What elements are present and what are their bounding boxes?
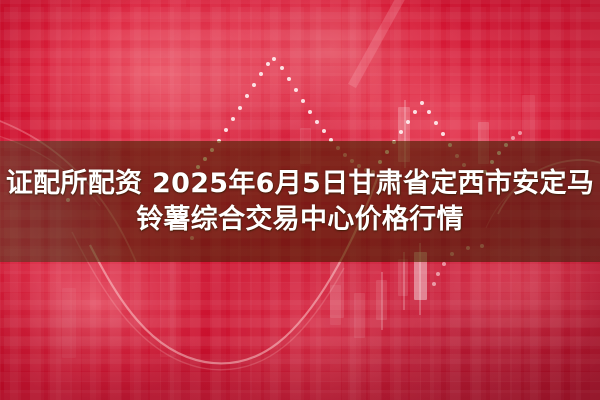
headline-block: 证配所配资 2025年6月5日甘肃省定西市安定马 铃薯综合交易中心价格行情 — [0, 141, 600, 262]
headline-line-2: 铃薯综合交易中心价格行情 — [136, 205, 464, 234]
headline-line-1: 证配所配资 2025年6月5日甘肃省定西市安定马 — [6, 169, 594, 198]
banner-image: 证配所配资 2025年6月5日甘肃省定西市安定马 铃薯综合交易中心价格行情 — [0, 0, 600, 400]
